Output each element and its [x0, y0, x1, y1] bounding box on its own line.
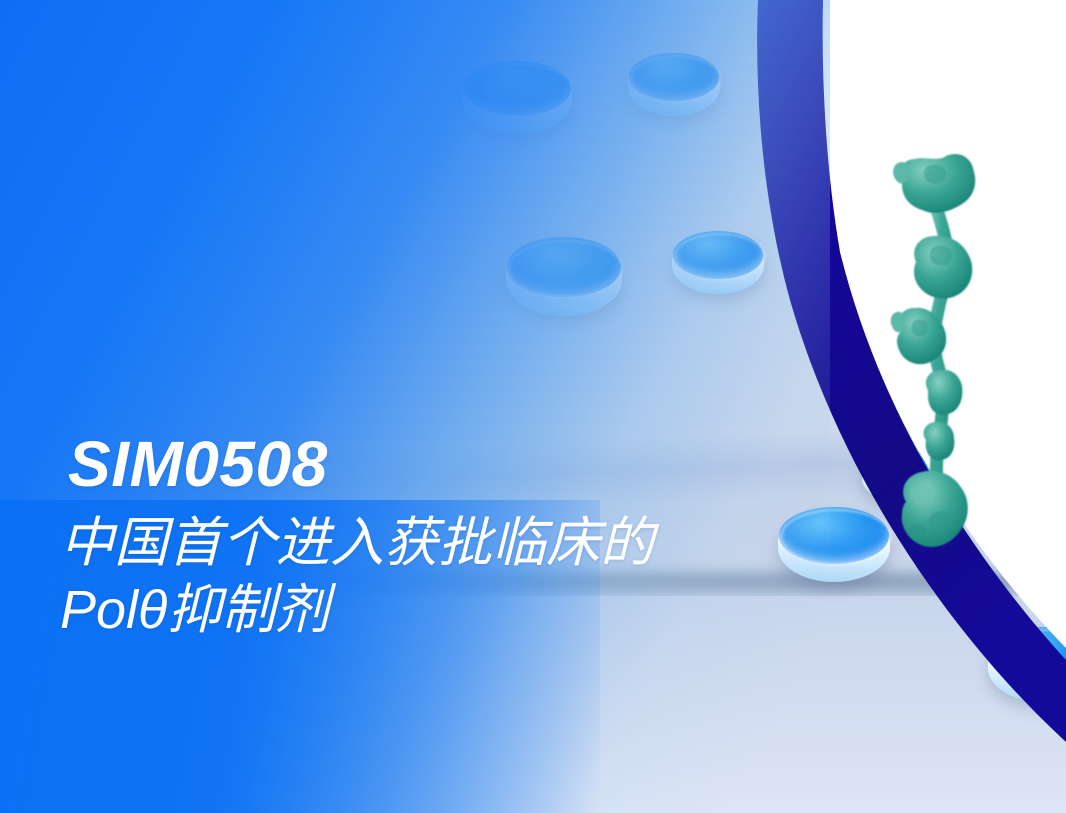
subtitle-line-1: 中国首个进入获批临床的 — [60, 510, 860, 577]
headline-block: SIM0508 中国首个进入获批临床的 Polθ抑制剂 — [60, 432, 860, 644]
page-title: SIM0508 — [68, 432, 860, 496]
subtitle-line-2: Polθ抑制剂 — [60, 577, 860, 644]
poster-canvas: SIM0508 中国首个进入获批临床的 Polθ抑制剂 — [0, 0, 1066, 813]
polymerase-theta-protein-structure — [880, 150, 1066, 570]
